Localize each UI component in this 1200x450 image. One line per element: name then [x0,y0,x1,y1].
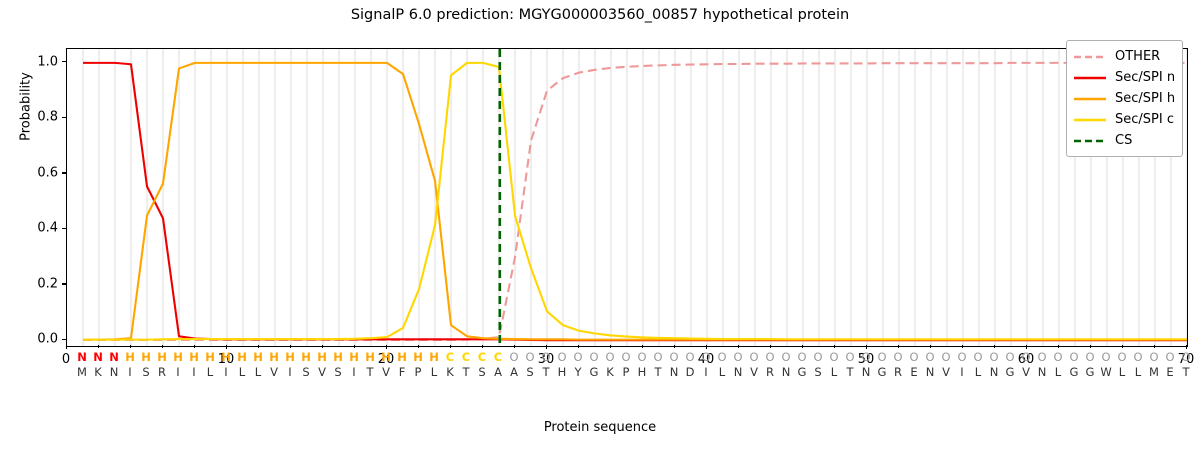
annotation-letter: H [282,349,298,365]
annotation-letter: H [218,349,234,365]
y-tick-mark [62,283,66,284]
annotation-letter: O [938,349,954,365]
y-tick-label: 0.2 [16,276,58,291]
sequence-letter: G [794,364,810,380]
sequence-letter: L [250,364,266,380]
annotation-letter: O [1050,349,1066,365]
x-tick-mark-minor [642,345,643,348]
x-tick-mark-minor [130,345,131,348]
x-tick-mark-minor [610,345,611,348]
sequence-letter: I [698,364,714,380]
annotation-letter: H [346,349,362,365]
sequence-letter: I [170,364,186,380]
sequence-letter: N [106,364,122,380]
sequence-letter: L [970,364,986,380]
annotation-letter: H [170,349,186,365]
x-tick-mark-minor [1058,345,1059,348]
annotation-letter: H [250,349,266,365]
annotation-letter: H [266,349,282,365]
annotation-letter: C [490,349,506,365]
annotation-letter: H [378,349,394,365]
x-tick-mark-minor [194,345,195,348]
annotation-letter: O [906,349,922,365]
sequence-letter: H [634,364,650,380]
annotation-letter: O [890,349,906,365]
x-tick-mark-minor [898,345,899,348]
annotation-letter: O [1130,349,1146,365]
sequence-letter: H [554,364,570,380]
legend-item-cs[interactable]: CS [1073,130,1175,151]
plot-canvas [67,49,1187,346]
series-line-sec-spi-h [83,63,1187,340]
x-tick-mark-minor [1122,345,1123,348]
legend-swatch-icon [1073,135,1107,147]
annotation-letter: O [810,349,826,365]
annotation-letter: O [618,349,634,365]
annotation-letter: O [666,349,682,365]
sequence-letter: K [602,364,618,380]
sequence-letter: K [442,364,458,380]
sequence-letter: N [666,364,682,380]
annotation-letter: O [858,349,874,365]
y-tick-mark [62,61,66,62]
sequence-letter: L [426,364,442,380]
annotation-letter: O [650,349,666,365]
legend-label: Sec/SPI c [1115,112,1174,127]
annotation-letter: O [1082,349,1098,365]
legend-label: Sec/SPI n [1115,70,1175,85]
x-tick-mark-minor [994,345,995,348]
sequence-letter: G [1082,364,1098,380]
legend-label: Sec/SPI h [1115,91,1175,106]
sequence-letter: R [890,364,906,380]
y-tick-mark [62,228,66,229]
sequence-letter: I [954,364,970,380]
series-line-sec-spi-n [83,63,1187,340]
y-tick-label: 0.4 [16,221,58,236]
sequence-letter: M [1146,364,1162,380]
annotation-letter: O [1178,349,1194,365]
sequence-letter: I [186,364,202,380]
x-tick-mark-minor [930,345,931,348]
annotation-letter: O [1146,349,1162,365]
x-tick-mark-minor [834,345,835,348]
annotation-letter: O [762,349,778,365]
legend-label: CS [1115,133,1132,148]
y-tick-label: 0.6 [16,165,58,180]
sequence-letter: T [458,364,474,380]
legend-item-sec-spi-n[interactable]: Sec/SPI n [1073,67,1175,88]
annotation-letter: O [714,349,730,365]
sequence-letter: M [74,364,90,380]
annotation-letter: H [362,349,378,365]
legend-swatch-icon [1073,51,1107,63]
annotation-letter: O [1114,349,1130,365]
x-tick-mark-minor [98,345,99,348]
annotation-letter: H [186,349,202,365]
x-tick-mark-minor [962,345,963,348]
sequence-letter: V [938,364,954,380]
annotation-letter: O [1098,349,1114,365]
sequence-letter: A [506,364,522,380]
sequence-letter: G [586,364,602,380]
annotation-letter: O [1018,349,1034,365]
legend-swatch-icon [1073,114,1107,126]
x-tick-mark-minor [1090,345,1091,348]
sequence-letter: N [1034,364,1050,380]
sequence-letter: D [682,364,698,380]
sequence-letter: L [1050,364,1066,380]
x-tick-mark-minor [674,345,675,348]
annotation-letter: O [970,349,986,365]
sequence-letter: I [218,364,234,380]
plot-area [66,48,1188,347]
sequence-letter: I [346,364,362,380]
sequence-letter: E [906,364,922,380]
x-tick-mark-minor [514,345,515,348]
annotation-letter: O [602,349,618,365]
sequence-track: MKNISRIILILLVISVSITVFPLKTSAASTHYGKPHTNDI… [66,364,1186,380]
sequence-letter: N [778,364,794,380]
annotation-letter: H [330,349,346,365]
annotation-letter: N [106,349,122,365]
annotation-letter: H [234,349,250,365]
annotation-letter: O [826,349,842,365]
x-tick-mark-minor [354,345,355,348]
sequence-letter: L [234,364,250,380]
x-tick-mark-minor [162,345,163,348]
annotation-letter: O [522,349,538,365]
x-tick-mark-minor [770,345,771,348]
annotation-letter: H [202,349,218,365]
sequence-letter: S [298,364,314,380]
annotation-letter: C [474,349,490,365]
annotation-letter: O [538,349,554,365]
annotation-letter: O [634,349,650,365]
sequence-letter: V [378,364,394,380]
sequence-letter: L [1130,364,1146,380]
x-axis-label: Protein sequence [0,420,1200,435]
annotation-track: NNNHHHHHHHHHHHHHHHHHHHHCCCCOOOOOOOOOOOOO… [66,349,1186,365]
sequence-letter: R [154,364,170,380]
signalp-prediction-figure: SignalP 6.0 prediction: MGYG000003560_00… [0,0,1200,450]
annotation-letter: O [842,349,858,365]
annotation-letter: O [794,349,810,365]
series-line-other [83,63,1187,340]
annotation-letter: H [426,349,442,365]
sequence-letter: K [90,364,106,380]
x-tick-mark-minor [802,345,803,348]
annotation-letter: O [1162,349,1178,365]
legend: OTHERSec/SPI nSec/SPI hSec/SPI cCS [1066,40,1183,157]
sequence-letter: L [1114,364,1130,380]
annotation-letter: H [154,349,170,365]
annotation-letter: O [1066,349,1082,365]
annotation-letter: O [570,349,586,365]
sequence-letter: T [650,364,666,380]
sequence-letter: V [314,364,330,380]
sequence-letter: G [874,364,890,380]
legend-item-sec-spi-h[interactable]: Sec/SPI h [1073,88,1175,109]
sequence-letter: L [202,364,218,380]
x-tick-mark-minor [1154,345,1155,348]
annotation-letter: H [298,349,314,365]
sequence-letter: V [1018,364,1034,380]
y-tick-label: 1.0 [16,54,58,69]
sequence-letter: N [922,364,938,380]
sequence-letter: T [842,364,858,380]
sequence-letter: N [986,364,1002,380]
sequence-letter: T [1178,364,1194,380]
sequence-letter: L [826,364,842,380]
annotation-letter: H [122,349,138,365]
x-tick-mark-minor [450,345,451,348]
sequence-letter: I [122,364,138,380]
annotation-letter: C [458,349,474,365]
sequence-letter: A [490,364,506,380]
annotation-letter: O [922,349,938,365]
sequence-letter: S [138,364,154,380]
sequence-letter: S [330,364,346,380]
sequence-letter: I [282,364,298,380]
annotation-letter: O [874,349,890,365]
sequence-letter: E [1162,364,1178,380]
x-tick-mark-minor [418,345,419,348]
sequence-letter: N [730,364,746,380]
sequence-letter: T [538,364,554,380]
annotation-letter: H [138,349,154,365]
annotation-letter: O [698,349,714,365]
sequence-letter: R [762,364,778,380]
annotation-letter: O [954,349,970,365]
sequence-letter: G [1066,364,1082,380]
annotation-letter: O [746,349,762,365]
annotation-letter: C [442,349,458,365]
sequence-letter: G [1002,364,1018,380]
annotation-letter: O [682,349,698,365]
series-line-sec-spi-c [83,63,1187,340]
sequence-letter: P [618,364,634,380]
sequence-letter: T [362,364,378,380]
annotation-letter: H [314,349,330,365]
annotation-letter: O [730,349,746,365]
y-tick-label: 0.8 [16,110,58,125]
y-tick-label: 0.0 [16,332,58,347]
annotation-letter: O [986,349,1002,365]
x-tick-mark-minor [258,345,259,348]
annotation-letter: H [394,349,410,365]
x-tick-mark-minor [322,345,323,348]
sequence-letter: W [1098,364,1114,380]
sequence-letter: V [266,364,282,380]
y-tick-mark [62,339,66,340]
sequence-letter: F [394,364,410,380]
legend-item-other[interactable]: OTHER [1073,46,1175,67]
sequence-letter: V [746,364,762,380]
annotation-letter: O [1034,349,1050,365]
legend-label: OTHER [1115,49,1160,64]
sequence-letter: Y [570,364,586,380]
sequence-letter: N [858,364,874,380]
x-tick-mark-minor [578,345,579,348]
annotation-letter: N [74,349,90,365]
annotation-letter: O [554,349,570,365]
legend-swatch-icon [1073,93,1107,105]
y-tick-mark [62,117,66,118]
y-axis-label: Probability [19,0,34,217]
sequence-letter: P [410,364,426,380]
annotation-letter: O [586,349,602,365]
annotation-letter: N [90,349,106,365]
sequence-letter: S [810,364,826,380]
page-title: SignalP 6.0 prediction: MGYG000003560_00… [0,7,1200,23]
sequence-letter: S [522,364,538,380]
sequence-letter: S [474,364,490,380]
annotation-letter: O [778,349,794,365]
sequence-letter: L [714,364,730,380]
annotation-letter: O [1002,349,1018,365]
x-tick-mark-minor [290,345,291,348]
annotation-letter: H [410,349,426,365]
legend-item-sec-spi-c[interactable]: Sec/SPI c [1073,109,1175,130]
x-tick-mark-minor [482,345,483,348]
x-tick-mark-minor [738,345,739,348]
annotation-letter: O [506,349,522,365]
y-tick-mark [62,172,66,173]
legend-swatch-icon [1073,72,1107,84]
